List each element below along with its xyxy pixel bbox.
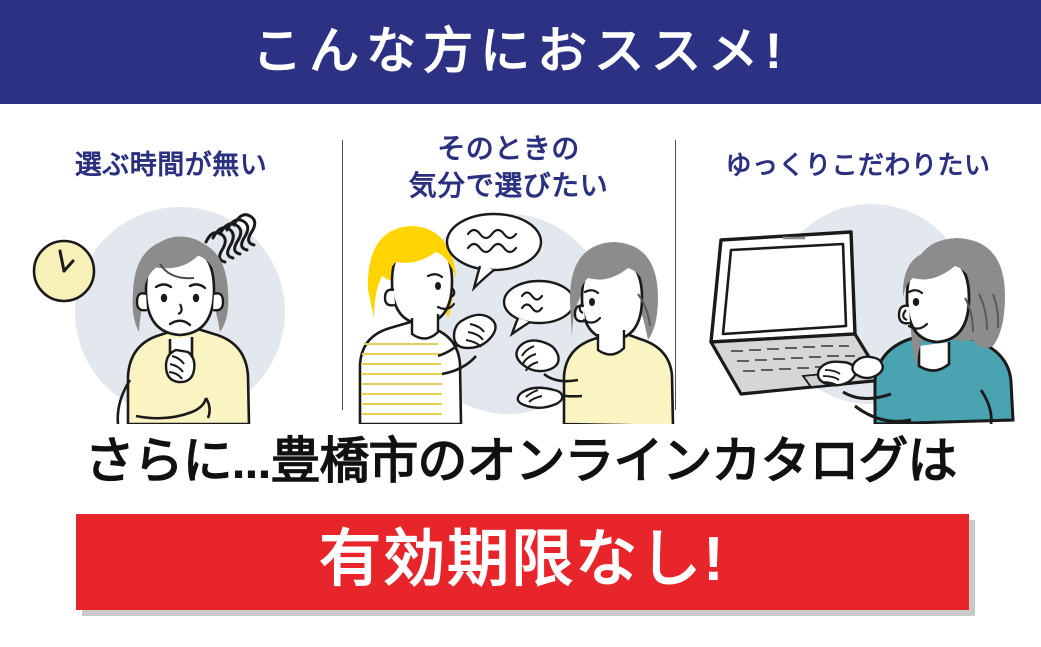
header-banner: こんな方におススメ! bbox=[0, 0, 1041, 104]
column-take-your-time: ゆっくりこだわりたい bbox=[675, 104, 1041, 424]
column-mood-choice: そのときの 気分で選びたい bbox=[342, 104, 675, 424]
tagline-text: さらに...豊橋市のオンラインカタログは bbox=[0, 434, 1041, 489]
red-banner-text: 有効期限なし! bbox=[319, 529, 726, 591]
woman-using-laptop-illustration bbox=[675, 194, 1041, 424]
worried-woman-with-clock-illustration bbox=[0, 194, 342, 424]
feature-columns: 選ぶ時間が無い bbox=[0, 104, 1041, 424]
column-divider-2 bbox=[675, 140, 676, 410]
column-1-heading: 選ぶ時間が無い bbox=[0, 148, 342, 184]
column-3-heading: ゆっくりこだわりたい bbox=[675, 148, 1041, 182]
promo-banner-page: こんな方におススメ! 選ぶ時間が無い bbox=[0, 0, 1041, 647]
two-women-talking-illustration bbox=[342, 194, 675, 424]
column-divider-1 bbox=[342, 140, 343, 410]
column-2-heading-line1: そのときの bbox=[342, 131, 675, 168]
red-banner: 有効期限なし! bbox=[76, 514, 969, 610]
column-no-time: 選ぶ時間が無い bbox=[0, 104, 342, 424]
header-title: こんな方におススメ! bbox=[252, 26, 789, 76]
